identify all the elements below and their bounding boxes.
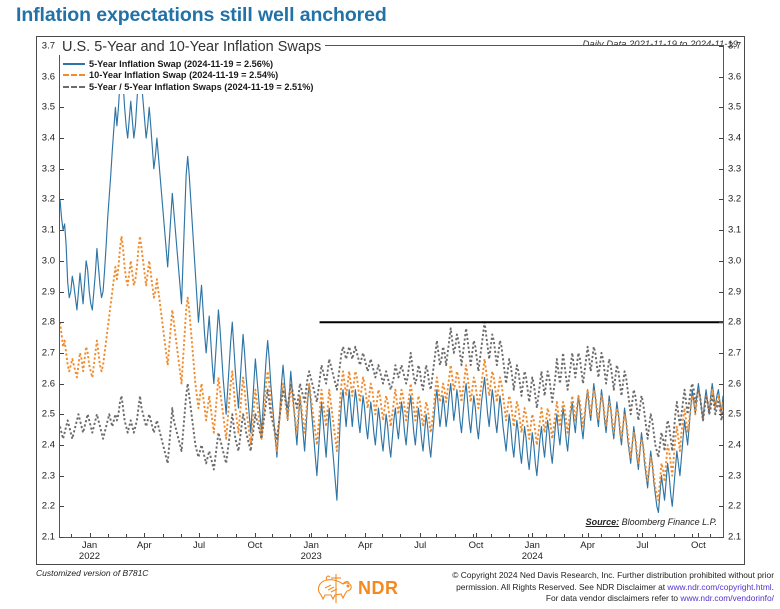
x-tick-mark-minor — [546, 534, 547, 537]
y-tick-label-l-2.5: 2.5 — [42, 409, 55, 420]
y-tick-mark — [60, 230, 64, 231]
y-tick-label-l-3.6: 3.6 — [42, 71, 55, 82]
y-tick-label-r-3.5: 3.5 — [728, 102, 741, 113]
x-tick-label-Jul: Jul — [414, 541, 426, 552]
y-tick-label-l-2.1: 2.1 — [42, 532, 55, 543]
y-tick-label-r-2.3: 2.3 — [728, 470, 741, 481]
x-tick-mark-minor — [509, 534, 510, 537]
y-tick-label-l-3.2: 3.2 — [42, 194, 55, 205]
x-tick-label-Jul: Jul — [636, 541, 648, 552]
x-tick-mark — [532, 533, 533, 537]
x-tick-mark-minor — [382, 534, 383, 537]
y-tick-label-r-2.4: 2.4 — [728, 439, 741, 450]
x-tick-mark-minor — [181, 534, 182, 537]
y-tick-label-l-2.3: 2.3 — [42, 470, 55, 481]
y-tick-mark — [719, 292, 723, 293]
y-tick-mark — [60, 169, 64, 170]
x-tick-mark-minor — [601, 534, 602, 537]
y-tick-mark — [719, 199, 723, 200]
x-tick-mark-minor — [637, 534, 638, 537]
y-tick-label-l-3.1: 3.1 — [42, 225, 55, 236]
x-tick-mark-minor — [163, 534, 164, 537]
x-tick-mark-minor — [528, 534, 529, 537]
copyright-line-2: permission. All Rights Reserved. See NDR… — [424, 582, 774, 594]
customized-version-note: Customized version of B781C — [36, 568, 148, 578]
x-tick-mark-minor — [71, 534, 72, 537]
x-tick-mark-minor — [309, 534, 310, 537]
y-tick-label-r-3.2: 3.2 — [728, 194, 741, 205]
y-tick-mark — [60, 322, 64, 323]
x-tick-label-Oct: Oct — [691, 541, 706, 552]
x-tick-label-Oct: Oct — [469, 541, 484, 552]
x-tick-label-Apr: Apr — [580, 541, 595, 552]
source-note: Source: Bloomberg Finance L.P. — [582, 517, 717, 527]
x-tick-mark-minor — [455, 534, 456, 537]
y-tick-label-r-3.4: 3.4 — [728, 133, 741, 144]
x-tick-mark-minor — [126, 534, 127, 537]
y-tick-label-r-3.1: 3.1 — [728, 225, 741, 236]
y-tick-mark — [60, 292, 64, 293]
copyright-line-3: For data vendor disclaimers refer to www… — [424, 593, 774, 605]
series-line-1 — [60, 236, 723, 500]
x-tick-mark-minor — [217, 534, 218, 537]
x-tick-mark — [90, 533, 91, 537]
legend-swatch-solid-line-icon — [63, 63, 85, 65]
y-tick-mark — [719, 230, 723, 231]
y-tick-mark — [719, 261, 723, 262]
y-tick-label-r-2.9: 2.9 — [728, 286, 741, 297]
legend-item-5y[interactable]: 5-Year Inflation Swap (2024-11-19 = 2.56… — [63, 58, 313, 70]
x-tick-mark — [255, 533, 256, 537]
y-tick-mark — [60, 261, 64, 262]
x-tick-mark — [420, 533, 421, 537]
y-tick-mark — [60, 476, 64, 477]
x-tick-mark-minor — [108, 534, 109, 537]
y-tick-label-l-2.4: 2.4 — [42, 439, 55, 450]
x-tick-mark-minor — [582, 534, 583, 537]
y-tick-mark — [719, 476, 723, 477]
ndr-wordmark: NDR — [358, 578, 399, 599]
x-tick-mark-minor — [327, 534, 328, 537]
y-tick-mark — [60, 445, 64, 446]
x-tick-mark-minor — [236, 534, 237, 537]
y-tick-mark — [719, 46, 723, 47]
copyright-link[interactable]: www.ndr.com/copyright.html — [667, 582, 771, 592]
panel-title: U.S. 5-Year and 10-Year Inflation Swaps — [58, 39, 325, 55]
y-tick-label-r-2.8: 2.8 — [728, 317, 741, 328]
x-tick-label-Apr: Apr — [358, 541, 373, 552]
y-tick-label-l-2.9: 2.9 — [42, 286, 55, 297]
y-tick-label-l-3.5: 3.5 — [42, 102, 55, 113]
y-tick-label-l-2.7: 2.7 — [42, 347, 55, 358]
x-tick-label-Apr: Apr — [137, 541, 152, 552]
vendorinfo-link[interactable]: www.ndr.com/vendorinfo/ — [680, 593, 774, 603]
y-tick-mark — [719, 384, 723, 385]
y-tick-label-l-2.8: 2.8 — [42, 317, 55, 328]
source-label: Source: — [586, 517, 620, 527]
x-tick-label-Jan-2024: Jan2024 — [522, 541, 543, 562]
y-tick-mark — [719, 445, 723, 446]
x-tick-mark-minor — [400, 534, 401, 537]
y-tick-mark — [719, 353, 723, 354]
y-tick-label-r-2.7: 2.7 — [728, 347, 741, 358]
source-value: Bloomberg Finance L.P. — [622, 517, 717, 527]
y-tick-label-r-3.0: 3.0 — [728, 255, 741, 266]
y-tick-mark — [60, 384, 64, 385]
x-tick-label-Jan-2023: Jan2023 — [301, 541, 322, 562]
y-tick-mark — [60, 138, 64, 139]
y-tick-label-r-2.6: 2.6 — [728, 378, 741, 389]
y-tick-label-l-3.7: 3.7 — [42, 41, 55, 52]
x-tick-mark-minor — [692, 534, 693, 537]
copyright-line-2-period: . — [772, 582, 774, 592]
copyright-line-1: © Copyright 2024 Ned Davis Research, Inc… — [424, 570, 774, 582]
x-tick-mark — [365, 533, 366, 537]
x-tick-mark — [588, 533, 589, 537]
x-tick-mark-minor — [272, 534, 273, 537]
y-tick-mark — [719, 506, 723, 507]
vendor-line-text: For data vendor disclaimers refer to — [546, 593, 678, 603]
y-tick-mark — [60, 537, 64, 538]
x-tick-mark — [476, 533, 477, 537]
copyright-block: © Copyright 2024 Ned Davis Research, Inc… — [424, 570, 774, 605]
y-tick-label-l-2.2: 2.2 — [42, 501, 55, 512]
x-tick-mark-minor — [564, 534, 565, 537]
x-tick-mark — [642, 533, 643, 537]
x-tick-label-Jul: Jul — [193, 541, 205, 552]
y-tick-mark — [60, 506, 64, 507]
series-line-0 — [60, 64, 723, 512]
y-tick-mark — [719, 77, 723, 78]
x-tick-mark-minor — [436, 534, 437, 537]
legend-label-5y5y: 5-Year / 5-Year Inflation Swaps (2024-11… — [89, 82, 313, 92]
x-tick-mark-minor — [290, 534, 291, 537]
legend-item-10y[interactable]: 10-Year Inflation Swap (2024-11-19 = 2.5… — [63, 70, 313, 82]
x-tick-mark — [144, 533, 145, 537]
y-tick-mark — [719, 138, 723, 139]
y-tick-mark — [60, 107, 64, 108]
y-tick-label-r-2.2: 2.2 — [728, 501, 741, 512]
x-tick-mark — [199, 533, 200, 537]
x-tick-mark-minor — [473, 534, 474, 537]
x-tick-label-Jan-2022: Jan2022 — [79, 541, 100, 562]
x-tick-label-Oct: Oct — [248, 541, 263, 552]
page-title: Inflation expectations still well anchor… — [16, 4, 387, 27]
y-tick-mark — [719, 169, 723, 170]
legend-item-5y5y[interactable]: 5-Year / 5-Year Inflation Swaps (2024-11… — [63, 81, 313, 93]
series-canvas — [60, 46, 723, 537]
y-tick-mark — [719, 414, 723, 415]
x-tick-mark — [311, 533, 312, 537]
chart-legend: 5-Year Inflation Swap (2024-11-19 = 2.56… — [60, 57, 316, 94]
x-tick-mark-minor — [345, 534, 346, 537]
y-tick-label-l-3.0: 3.0 — [42, 255, 55, 266]
y-tick-label-r-2.1: 2.1 — [728, 532, 741, 543]
y-tick-mark — [719, 107, 723, 108]
y-tick-label-r-3.3: 3.3 — [728, 163, 741, 174]
y-tick-label-r-3.6: 3.6 — [728, 71, 741, 82]
x-tick-mark-minor — [655, 534, 656, 537]
legend-swatch-dashed-orange-line-icon — [63, 74, 85, 76]
y-tick-label-r-2.5: 2.5 — [728, 409, 741, 420]
copyright-line-2-text: permission. All Rights Reserved. See NDR… — [456, 582, 665, 592]
y-tick-mark — [60, 199, 64, 200]
chart-frame: Daily Data 2021-11-19 to 2024-11-19 2.12… — [36, 36, 745, 565]
y-tick-mark — [719, 537, 723, 538]
y-tick-mark — [719, 322, 723, 323]
x-tick-mark-minor — [674, 534, 675, 537]
y-tick-label-r-3.7: 3.7 — [728, 41, 741, 52]
y-tick-mark — [60, 414, 64, 415]
legend-swatch-dashed-gray-line-icon — [63, 86, 85, 88]
y-tick-label-l-2.6: 2.6 — [42, 378, 55, 389]
plot-area: 2.12.12.22.22.32.32.42.42.52.52.62.62.72… — [59, 45, 724, 538]
x-tick-mark-minor — [619, 534, 620, 537]
legend-label-10y: 10-Year Inflation Swap (2024-11-19 = 2.5… — [89, 70, 278, 80]
x-tick-mark — [698, 533, 699, 537]
y-tick-label-l-3.4: 3.4 — [42, 133, 55, 144]
y-tick-mark — [60, 353, 64, 354]
y-tick-label-l-3.3: 3.3 — [42, 163, 55, 174]
x-tick-mark-minor — [710, 534, 711, 537]
x-tick-mark-minor — [491, 534, 492, 537]
legend-label-5y: 5-Year Inflation Swap (2024-11-19 = 2.56… — [89, 59, 273, 69]
